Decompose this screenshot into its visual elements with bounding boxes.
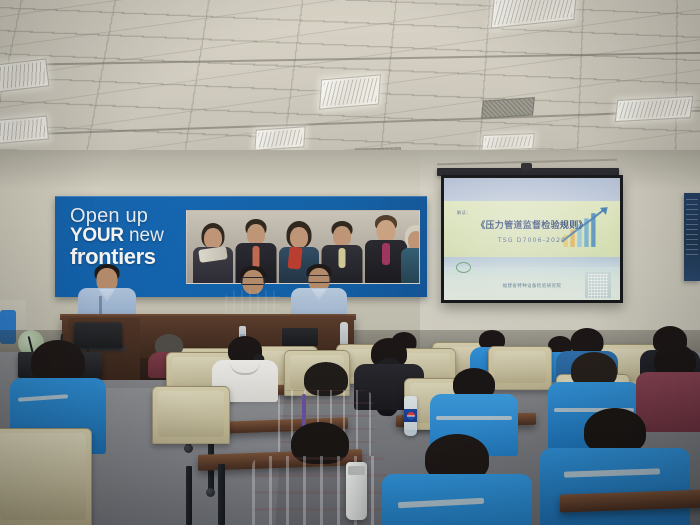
projected-slide: 解读： 《压力管道监督检验规则》 TSG D7006-2020 福建省特种设备检… <box>444 178 620 300</box>
banner-line-2: YOUR new <box>70 226 202 245</box>
slide-standard-code: TSG D7006-2020 <box>444 237 620 244</box>
ceiling-light-panel <box>254 126 305 151</box>
screen-mount-bracket <box>521 163 532 170</box>
presenter-laptop-secondary <box>282 328 318 346</box>
slide-band-top <box>444 178 620 201</box>
pepsi-bottle[interactable] <box>404 396 417 436</box>
ceiling-light-panel <box>481 133 535 151</box>
ceiling-light-panel <box>319 74 381 110</box>
lecture-chair-near[interactable] <box>0 428 92 525</box>
projection-screen: 解读： 《压力管道监督检验规则》 TSG D7006-2020 福建省特种设备检… <box>441 175 623 303</box>
desk-caster <box>184 444 193 453</box>
attendee-blue-uniform-closest <box>382 434 532 525</box>
glasses-icon <box>241 277 266 285</box>
glasses-icon <box>307 275 331 283</box>
attendee-pink-plaid-near <box>252 422 388 525</box>
crew-member <box>401 221 420 283</box>
desk-leg <box>218 464 225 525</box>
thermos-flask[interactable] <box>346 462 367 520</box>
banner-line-1: Open up <box>70 206 202 226</box>
slide-footer-organization: 福建省特种设备检验研究院 <box>444 283 620 289</box>
ceiling-light-panel <box>615 96 694 122</box>
water-bottle <box>340 322 348 346</box>
lecture-chair[interactable] <box>152 386 230 444</box>
slide-title: 《压力管道监督检验规则》 <box>444 218 620 231</box>
slide-kicker: 解读： <box>444 210 620 216</box>
ceiling-air-vent <box>481 97 535 119</box>
desk-leg <box>186 466 192 525</box>
wall-notice-poster <box>684 193 700 281</box>
classroom-photo-scene: Open up YOUR new frontiers <box>0 0 700 525</box>
desk-caster <box>206 488 215 497</box>
